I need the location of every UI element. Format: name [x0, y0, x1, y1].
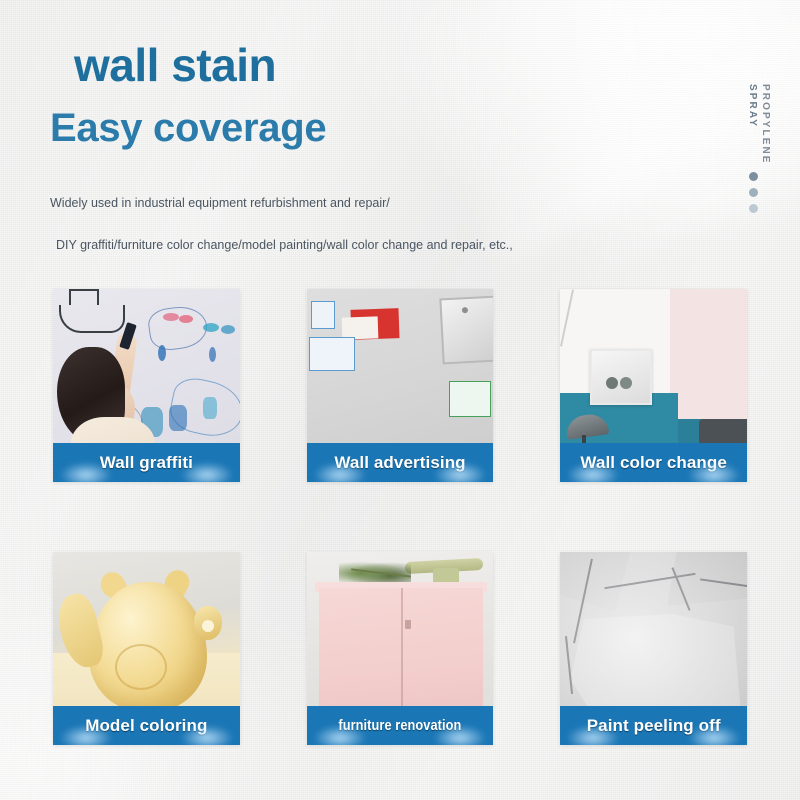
carousel-dot-2[interactable] [749, 188, 758, 197]
card-banner: furniture renovation [307, 706, 494, 745]
drawing-mark [203, 397, 217, 419]
side-vertical-label: SPRAY PROPYLENE [747, 84, 770, 174]
card-label: Wall advertising [334, 453, 465, 473]
grid-row-2: Model coloring furnitu [53, 552, 747, 745]
drawing-boat [59, 305, 125, 333]
use-case-card[interactable]: Wall color change [560, 289, 747, 482]
carousel-dot-3[interactable] [749, 204, 758, 213]
cabinet-lock [405, 620, 411, 629]
card-label: Paint peeling off [587, 716, 721, 736]
grid-row-1: Wall graffiti Wall advertising [53, 289, 747, 482]
picture-shape [620, 377, 632, 389]
drawing-mark [158, 345, 166, 361]
drawing-mark [169, 405, 187, 431]
drawing-mark [221, 325, 235, 334]
card-label: furniture renovation [339, 718, 462, 734]
card-banner: Wall color change [560, 443, 747, 482]
wall-frame [440, 296, 494, 365]
page-subtitle: Easy coverage [50, 108, 326, 148]
description-line-1: Widely used in industrial equipment refu… [50, 196, 390, 210]
ad-sticker-blue [311, 301, 335, 329]
drawing-scribble [146, 303, 209, 353]
ad-sticker-blue [309, 337, 355, 371]
figurine-emblem [115, 644, 167, 690]
use-case-grid: Wall graffiti Wall advertising [53, 289, 747, 745]
use-case-card[interactable]: Wall advertising [307, 289, 494, 482]
card-label: Wall graffiti [100, 453, 193, 473]
light-streak [397, 0, 800, 262]
drawing-mark [163, 313, 179, 321]
carousel-dots[interactable] [749, 172, 758, 213]
use-case-card[interactable]: Paint peeling off [560, 552, 747, 745]
description-line-2: DIY graffiti/furniture color change/mode… [56, 238, 513, 252]
use-case-card[interactable]: furniture renovation [307, 552, 494, 745]
side-label-line-1: SPRAY [747, 84, 757, 128]
drawing-mark [203, 323, 219, 332]
poster-canvas: wall stain Easy coverage Widely used in … [0, 0, 800, 800]
drawing-mark [179, 315, 193, 323]
card-banner: Wall advertising [307, 443, 494, 482]
use-case-card[interactable]: Wall graffiti [53, 289, 240, 482]
wall-pink-section [670, 289, 747, 419]
framed-picture [590, 349, 652, 405]
card-banner: Paint peeling off [560, 706, 747, 745]
use-case-card[interactable]: Model coloring [53, 552, 240, 745]
figurine-bell [194, 606, 222, 640]
page-title: wall stain [74, 42, 276, 88]
side-label-line-2: PROPYLENE [760, 84, 770, 165]
card-banner: Wall graffiti [53, 443, 240, 482]
card-label: Model coloring [85, 716, 207, 736]
card-banner: Model coloring [53, 706, 240, 745]
picture-shape [606, 377, 618, 389]
carousel-dot-1[interactable] [749, 172, 758, 181]
card-label: Wall color change [580, 453, 727, 473]
ad-sticker-green [449, 381, 491, 417]
drawing-mark [209, 347, 216, 362]
